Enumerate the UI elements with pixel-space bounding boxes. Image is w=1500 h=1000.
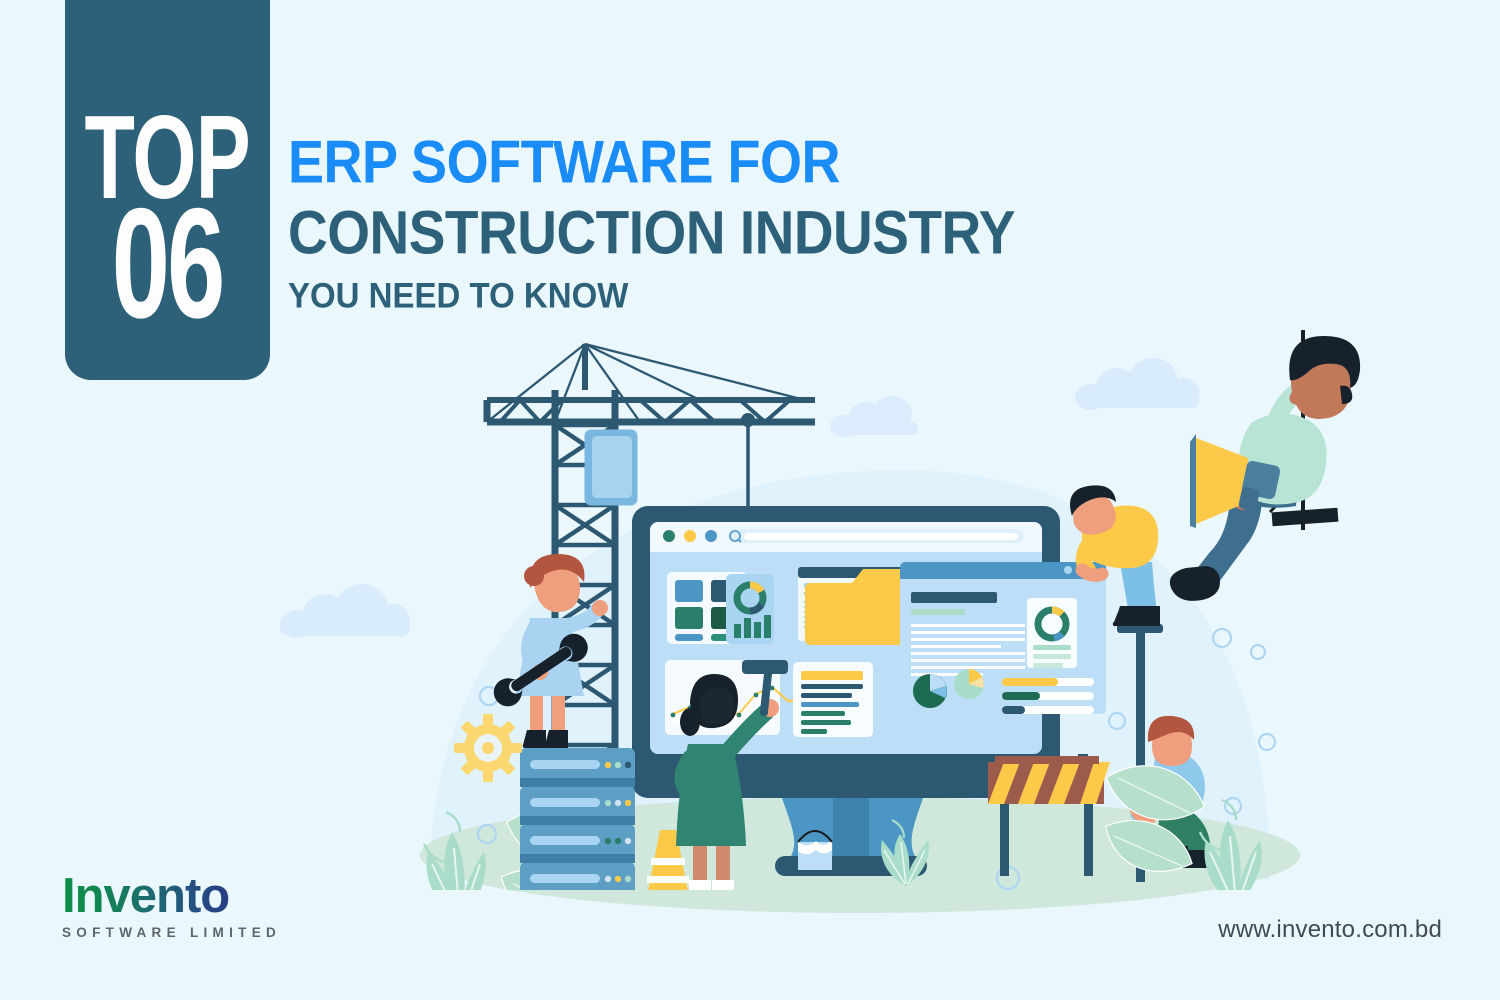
headline-line-1: ERP SOFTWARE FOR bbox=[288, 132, 1015, 192]
poster-canvas: TOP 06 ERP SOFTWARE FOR CONSTRUCTION IND… bbox=[0, 0, 1500, 1000]
server-rack bbox=[513, 748, 642, 890]
headline-line-3: YOU NEED TO KNOW bbox=[288, 278, 1015, 313]
headline-line-2: CONSTRUCTION INDUSTRY bbox=[288, 202, 1015, 264]
top-06-badge: TOP 06 bbox=[65, 0, 270, 380]
gear-icon bbox=[454, 714, 522, 782]
brand-logo: Invento SOFTWARE LIMITED bbox=[62, 872, 281, 940]
page-title: ERP SOFTWARE FOR CONSTRUCTION INDUSTRY Y… bbox=[288, 132, 1015, 311]
logo-tagline: SOFTWARE LIMITED bbox=[62, 925, 281, 940]
hero-illustration bbox=[0, 330, 1500, 890]
road-barrier bbox=[985, 754, 1110, 876]
website-url[interactable]: www.invento.com.bd bbox=[1218, 916, 1442, 944]
plant-icon bbox=[424, 812, 486, 890]
man-abseiling-with-megaphone bbox=[1170, 336, 1360, 601]
logo-wordmark: Invento bbox=[62, 872, 281, 921]
plant-icon bbox=[1200, 800, 1262, 890]
browser-window-overlay bbox=[900, 562, 1106, 714]
badge-number-label: 06 bbox=[112, 201, 223, 326]
